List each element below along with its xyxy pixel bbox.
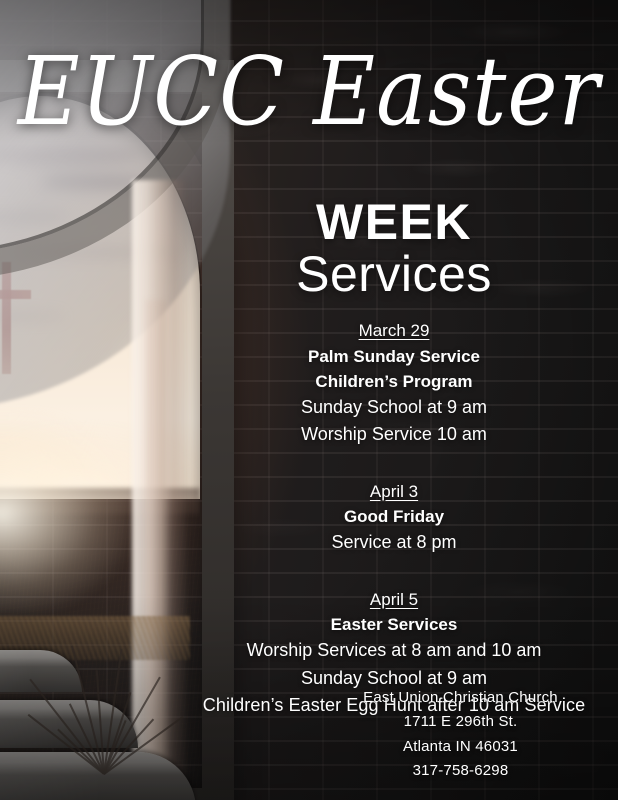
schedule-date: March 29 — [168, 318, 618, 344]
street-address: 1711 E 296th St. — [318, 710, 603, 734]
phone-number: 317-758-6298 — [318, 759, 603, 783]
poster-content: EUCC Easter WEEK Services March 29 Palm … — [0, 0, 618, 800]
schedule-headline: Good Friday — [168, 504, 618, 529]
schedule-block-palm-sunday: March 29 Palm Sunday Service Children’s … — [168, 318, 618, 449]
schedule-date: April 5 — [168, 587, 618, 613]
schedule-headline: Easter Services — [168, 612, 618, 637]
church-name: East Union Christian Church — [318, 686, 603, 710]
schedule-detail: Service at 8 pm — [168, 529, 618, 556]
heading-week: WEEK — [168, 196, 618, 248]
easter-services-poster: EUCC Easter WEEK Services March 29 Palm … — [0, 0, 618, 800]
city-state-zip: Atlanta IN 46031 — [318, 735, 603, 759]
schedule-detail: Sunday School at 9 am — [168, 394, 618, 421]
poster-title: EUCC Easter — [0, 45, 618, 139]
schedule-detail: Worship Service 10 am — [168, 421, 618, 448]
schedule-detail: Worship Services at 8 am and 10 am — [168, 637, 618, 664]
services-text-column: WEEK Services March 29 Palm Sunday Servi… — [168, 196, 618, 719]
schedule-headline: Palm Sunday Service — [168, 344, 618, 369]
schedule-block-good-friday: April 3 Good Friday Service at 8 pm — [168, 479, 618, 557]
contact-info: East Union Christian Church 1711 E 296th… — [318, 686, 603, 783]
heading-services: Services — [168, 246, 618, 302]
schedule-date: April 3 — [168, 479, 618, 505]
schedule-headline2: Children’s Program — [168, 369, 618, 394]
